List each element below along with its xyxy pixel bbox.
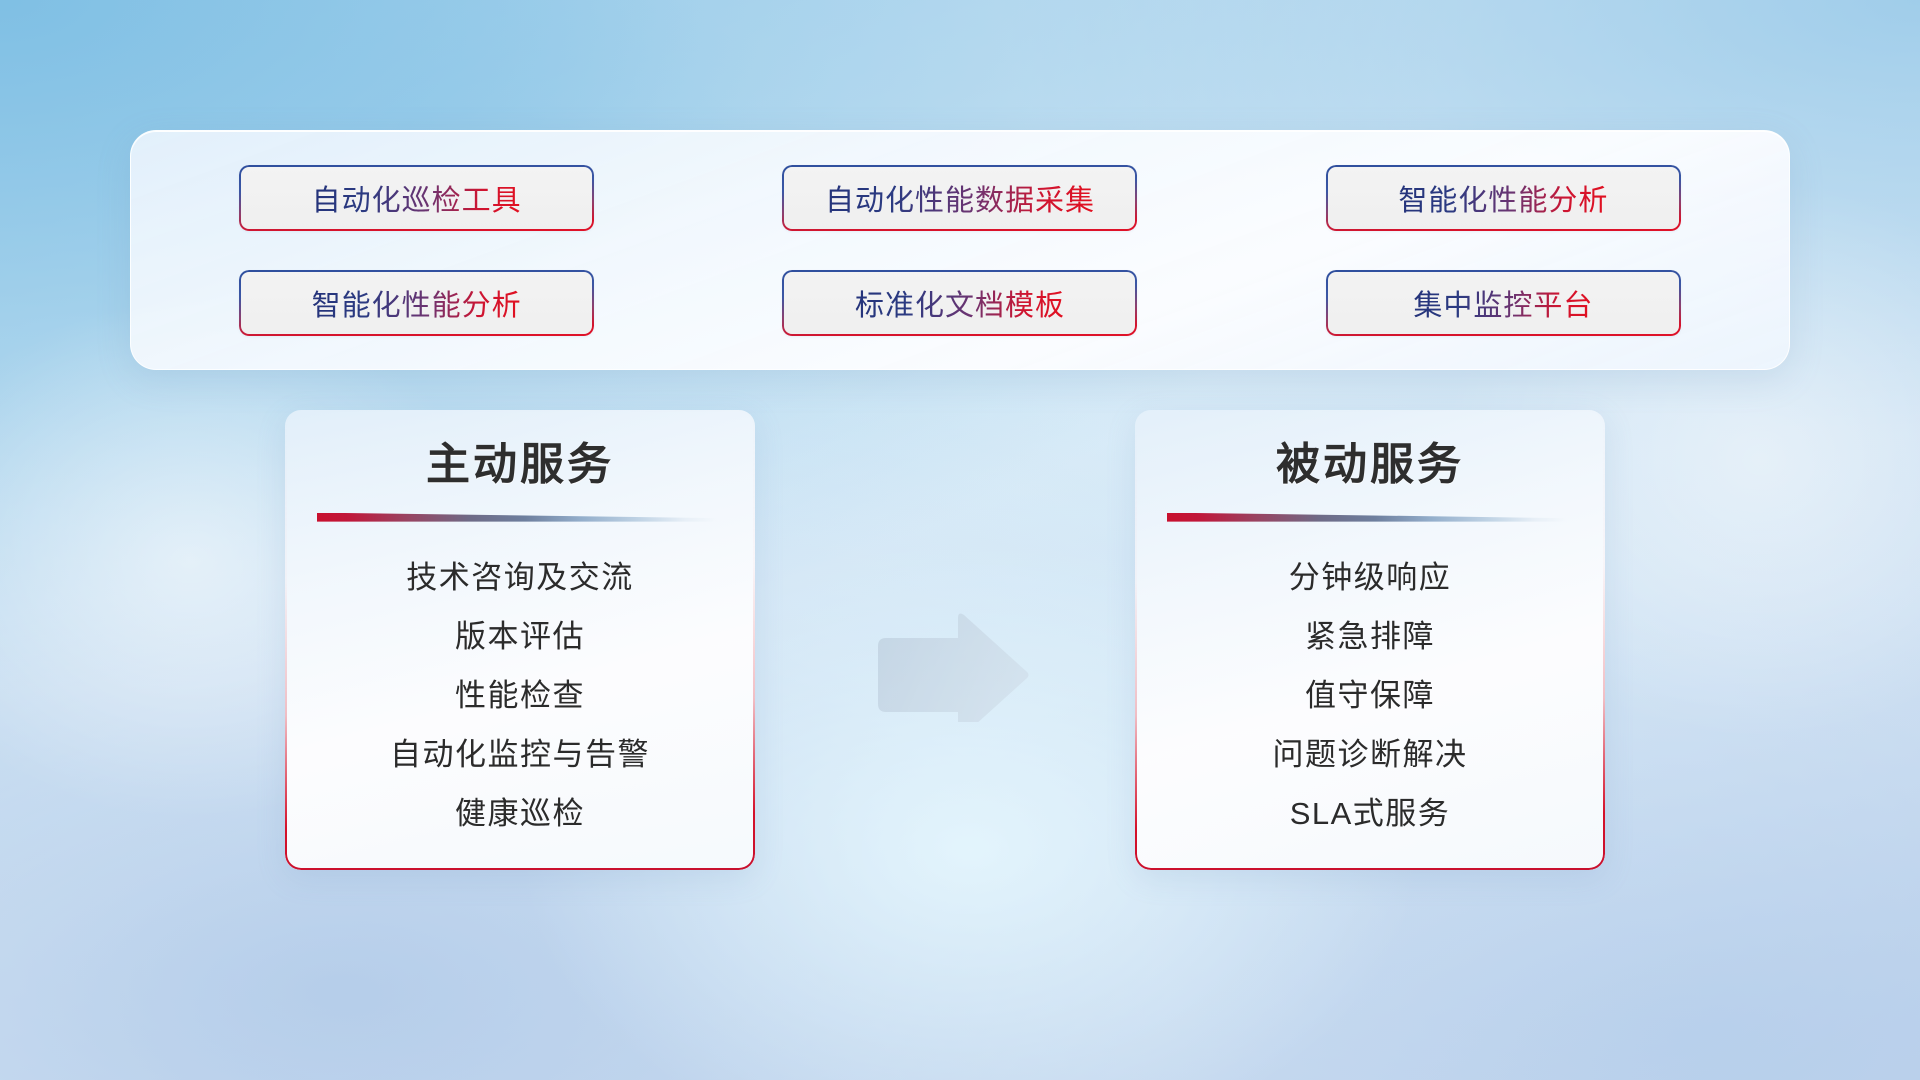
capability-pill-centralized-monitoring-platform[interactable]: 集中监控平台 <box>1326 270 1681 336</box>
service-item-list: 分钟级响应 紧急排障 值守保障 问题诊断解决 SLA式服务 <box>1165 548 1575 843</box>
capability-pill-label: 智能化性能分析 <box>312 282 522 324</box>
capability-pill-label: 集中监控平台 <box>1413 282 1593 324</box>
list-item[interactable]: SLA式服务 <box>1165 784 1575 843</box>
service-card-proactive[interactable]: 主动服务 技术咨询及交流 版本评估 性能检查 自动化监控与告警 健康巡检 <box>285 410 755 870</box>
capability-pill-label: 自动化巡检工具 <box>312 177 522 219</box>
capability-pill-label: 智能化性能分析 <box>1398 177 1608 219</box>
capability-panel: 自动化巡检工具 自动化性能数据采集 智能化性能分析 智能化性能分析 标准化文档模… <box>130 130 1790 370</box>
list-item[interactable]: 值守保障 <box>1165 666 1575 725</box>
list-item[interactable]: 版本评估 <box>315 607 725 666</box>
list-item[interactable]: 问题诊断解决 <box>1165 725 1575 784</box>
list-item[interactable]: 性能检查 <box>315 666 725 725</box>
capability-pill-automated-performance-collection[interactable]: 自动化性能数据采集 <box>782 165 1137 231</box>
service-card-title: 被动服务 <box>1165 440 1575 491</box>
slide-canvas: 自动化巡检工具 自动化性能数据采集 智能化性能分析 智能化性能分析 标准化文档模… <box>0 0 1920 1080</box>
list-item[interactable]: 分钟级响应 <box>1165 548 1575 607</box>
capability-pill-intelligent-performance-analysis-2[interactable]: 智能化性能分析 <box>239 270 594 336</box>
service-item-list: 技术咨询及交流 版本评估 性能检查 自动化监控与告警 健康巡检 <box>315 548 725 843</box>
title-divider <box>1167 513 1567 522</box>
arrow-right-icon <box>872 612 1032 722</box>
service-card-reactive[interactable]: 被动服务 分钟级响应 紧急排障 值守保障 问题诊断解决 SLA式服务 <box>1135 410 1605 870</box>
service-card-title: 主动服务 <box>315 440 725 491</box>
list-item[interactable]: 技术咨询及交流 <box>315 548 725 607</box>
title-divider <box>317 513 717 522</box>
capability-pill-standardized-doc-template[interactable]: 标准化文档模板 <box>782 270 1137 336</box>
capability-pill-automated-inspection-tool[interactable]: 自动化巡检工具 <box>239 165 594 231</box>
capability-pill-intelligent-performance-analysis-1[interactable]: 智能化性能分析 <box>1326 165 1681 231</box>
list-item[interactable]: 紧急排障 <box>1165 607 1575 666</box>
list-item[interactable]: 健康巡检 <box>315 784 725 843</box>
capability-pill-label: 标准化文档模板 <box>855 282 1065 324</box>
capability-pill-label: 自动化性能数据采集 <box>825 177 1095 219</box>
list-item[interactable]: 自动化监控与告警 <box>315 725 725 784</box>
